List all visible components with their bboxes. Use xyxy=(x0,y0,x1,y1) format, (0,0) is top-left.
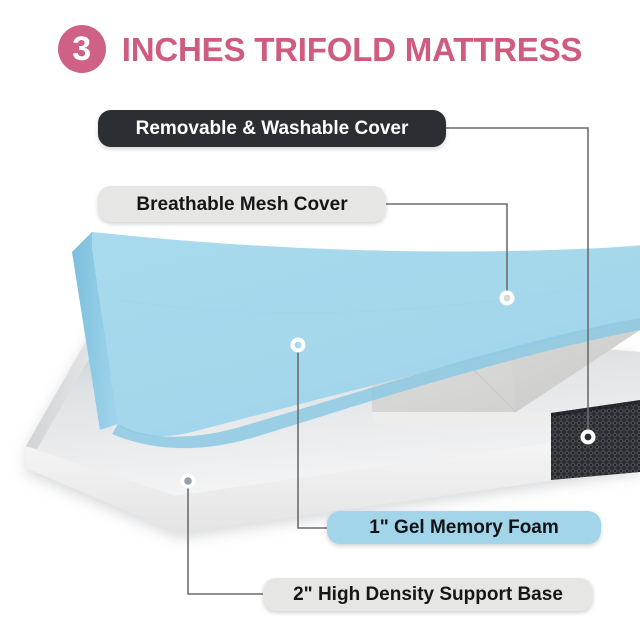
page-title: INCHES TRIFOLD MATTRESS xyxy=(122,33,582,66)
breathable-mesh-panel xyxy=(551,400,640,480)
callout-label-breathable-mesh-cover: Breathable Mesh Cover xyxy=(98,186,386,222)
thickness-badge: 3 xyxy=(58,25,106,73)
callout-label-removable-washable-cover: Removable & Washable Cover xyxy=(98,110,446,147)
callout-label-high-density-support-base: 2" High Density Support Base xyxy=(263,578,593,611)
callout-label-gel-memory-foam: 1" Gel Memory Foam xyxy=(327,511,601,544)
mattress-illustration xyxy=(0,0,640,640)
page-header: 3 INCHES TRIFOLD MATTRESS xyxy=(0,18,640,80)
